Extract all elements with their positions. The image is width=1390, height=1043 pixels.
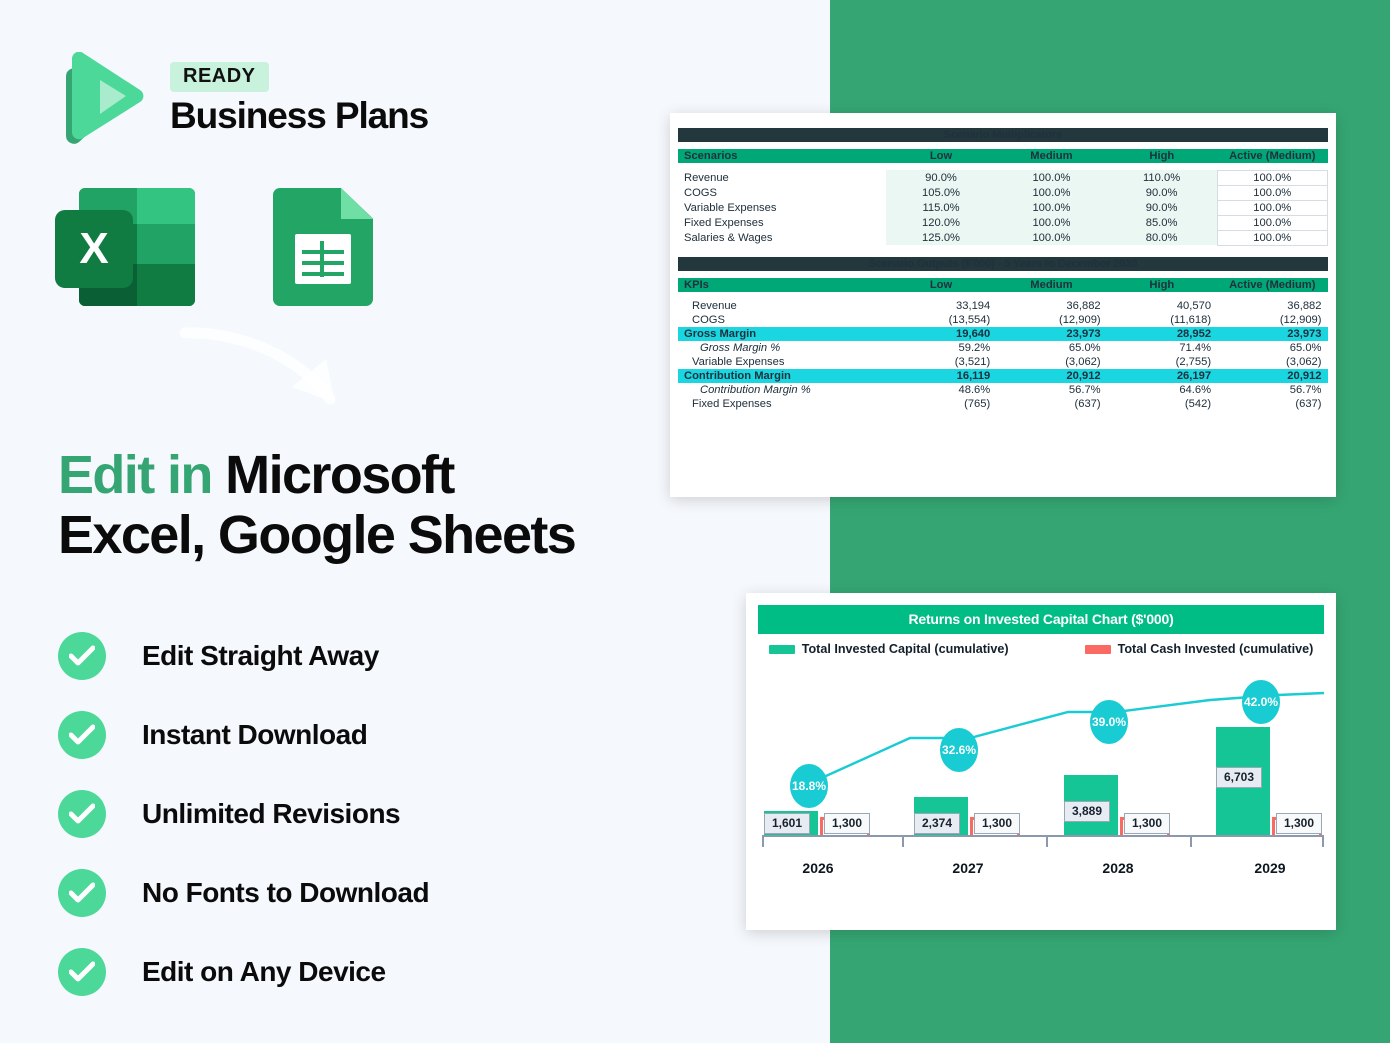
roic-bubble: 42.0%	[1242, 680, 1280, 724]
row-label: Fixed Expenses	[678, 215, 886, 230]
x-tick-label: 2029	[1254, 860, 1285, 876]
bar-label: 6,703	[1216, 767, 1262, 788]
legend-label: Total Cash Invested (cumulative)	[1118, 642, 1314, 656]
cell-low: 16,119	[886, 369, 996, 383]
row-label: Variable Expenses	[678, 355, 886, 369]
row-label: Contribution Margin	[678, 369, 886, 383]
cell-active: (3,062)	[1217, 355, 1327, 369]
column-header: Medium	[996, 149, 1106, 163]
cell-low: 125.0%	[886, 230, 996, 245]
row-label: Gross Margin	[678, 327, 886, 341]
cell-high: 110.0%	[1107, 170, 1217, 185]
cell-low: (3,521)	[886, 355, 996, 369]
check-circle-icon	[58, 869, 106, 917]
table-row: Contribution Margin % 48.6% 56.7% 64.6% …	[678, 383, 1328, 397]
column-header: KPIs	[678, 278, 886, 292]
x-axis-labels: 2026 2027 2028 2029	[758, 860, 1324, 886]
play-triangle-logo-icon	[58, 52, 146, 144]
cell-high: 80.0%	[1107, 230, 1217, 245]
cell-low: (765)	[886, 397, 996, 411]
column-header: High	[1107, 149, 1217, 163]
cell-medium: 100.0%	[996, 185, 1106, 200]
cell-high: 85.0%	[1107, 215, 1217, 230]
cell-high: 40,570	[1107, 299, 1217, 313]
cell-high: 28,952	[1107, 327, 1217, 341]
roic-bubble: 39.0%	[1090, 700, 1128, 744]
table-title-row: Scenario Multiplicators	[678, 128, 1328, 142]
feature-label: Edit Straight Away	[142, 640, 379, 672]
x-axis-line	[762, 835, 1324, 837]
row-label: Gross Margin %	[678, 341, 886, 355]
bar-label: 1,300	[824, 813, 870, 834]
microsoft-excel-icon: X	[55, 188, 195, 306]
legend-swatch-icon	[769, 645, 795, 654]
column-header: High	[1107, 278, 1217, 292]
cell-high: (542)	[1107, 397, 1217, 411]
cell-medium: 65.0%	[996, 341, 1106, 355]
cell-high: 71.4%	[1107, 341, 1217, 355]
chart-title: Returns on Invested Capital Chart ($'000…	[758, 605, 1324, 634]
cell-medium: 100.0%	[996, 230, 1106, 245]
bar-label: 1,300	[1276, 813, 1322, 834]
row-label: Revenue	[678, 170, 886, 185]
cell-medium: 100.0%	[996, 170, 1106, 185]
roic-bubble: 18.8%	[790, 764, 828, 808]
feature-label: Edit on Any Device	[142, 956, 386, 988]
bar-label: 1,601	[764, 813, 810, 834]
list-item: No Fonts to Download	[58, 853, 429, 932]
bar-label: 3,889	[1064, 801, 1110, 822]
check-circle-icon	[58, 790, 106, 838]
cell-medium: (3,062)	[996, 355, 1106, 369]
cell-medium: 23,973	[996, 327, 1106, 341]
table-header-row: KPIs Low Medium High Active (Medium)	[678, 278, 1328, 292]
cell-medium: (637)	[996, 397, 1106, 411]
cell-low: 19,640	[886, 327, 996, 341]
cell-active: 56.7%	[1217, 383, 1327, 397]
cell-low: (13,554)	[886, 313, 996, 327]
legend-label: Total Invested Capital (cumulative)	[802, 642, 1009, 656]
cell-low: 33,194	[886, 299, 996, 313]
table-row: Gross Margin 19,640 23,973 28,952 23,973	[678, 327, 1328, 341]
brand-header: READY Business Plans	[58, 52, 428, 144]
bar-label: 1,300	[974, 813, 1020, 834]
cell-high: 64.6%	[1107, 383, 1217, 397]
cell-high: (2,755)	[1107, 355, 1217, 369]
cell-active[interactable]: 100.0%	[1217, 185, 1327, 200]
app-icons-row: X	[55, 188, 373, 306]
cell-low: 48.6%	[886, 383, 996, 397]
list-item: Edit on Any Device	[58, 932, 429, 1011]
excel-letter: X	[55, 210, 133, 288]
ready-badge: READY	[170, 62, 269, 92]
cell-high: (11,618)	[1107, 313, 1217, 327]
legend-swatch-icon	[1085, 645, 1111, 654]
headline-rest: Microsoft	[212, 445, 454, 505]
x-tick-label: 2026	[802, 860, 833, 876]
cell-medium: 56.7%	[996, 383, 1106, 397]
google-sheets-icon	[273, 188, 373, 306]
headline-accent: Edit in	[58, 445, 212, 505]
check-circle-icon	[58, 948, 106, 996]
row-label: Salaries & Wages	[678, 230, 886, 245]
row-label: Revenue	[678, 299, 886, 313]
bar-label: 2,374	[914, 813, 960, 834]
feature-label: Unlimited Revisions	[142, 798, 400, 830]
cell-active: (12,909)	[1217, 313, 1327, 327]
cell-active[interactable]: 100.0%	[1217, 170, 1327, 185]
list-item: Instant Download	[58, 695, 429, 774]
headline-line2: Excel, Google Sheets	[58, 505, 575, 565]
table-header-row: Scenarios Low Medium High Active (Medium…	[678, 149, 1328, 163]
row-label: Fixed Expenses	[678, 397, 886, 411]
table-row: Fixed Expenses 120.0% 100.0% 85.0% 100.0…	[678, 215, 1328, 230]
feature-label: Instant Download	[142, 719, 367, 751]
column-header: Scenarios	[678, 149, 886, 163]
cell-active: 20,912	[1217, 369, 1327, 383]
cell-low: 59.2%	[886, 341, 996, 355]
outputs-title: Scenario Outputs ($'000) - 5 Years to De…	[678, 257, 1328, 271]
spreadsheet-preview-card: Scenario Multiplicators Scenarios Low Me…	[670, 113, 1336, 497]
cell-active[interactable]: 100.0%	[1217, 215, 1327, 230]
curved-arrow-icon	[180, 325, 370, 425]
cell-high: 90.0%	[1107, 200, 1217, 215]
x-tick-label: 2027	[952, 860, 983, 876]
legend-item-invested-capital: Total Invested Capital (cumulative)	[769, 642, 1009, 656]
table-row: Salaries & Wages 125.0% 100.0% 80.0% 100…	[678, 230, 1328, 245]
row-label: Variable Expenses	[678, 200, 886, 215]
row-label: COGS	[678, 185, 886, 200]
cell-low: 120.0%	[886, 215, 996, 230]
row-label: Contribution Margin %	[678, 383, 886, 397]
cell-low: 105.0%	[886, 185, 996, 200]
scenario-tables: Scenario Multiplicators Scenarios Low Me…	[678, 128, 1328, 411]
list-item: Edit Straight Away	[58, 616, 429, 695]
brand-name: Business Plans	[170, 97, 428, 136]
check-circle-icon	[58, 711, 106, 759]
page-title: Edit in Microsoft Excel, Google Sheets	[58, 445, 758, 566]
cell-low: 115.0%	[886, 200, 996, 215]
cell-active[interactable]: 100.0%	[1217, 200, 1327, 215]
cell-medium: 36,882	[996, 299, 1106, 313]
cell-low: 90.0%	[886, 170, 996, 185]
legend-item-cash-invested: Total Cash Invested (cumulative)	[1085, 642, 1314, 656]
column-header: Low	[886, 278, 996, 292]
column-header: Medium	[996, 278, 1106, 292]
chart-preview-card: Returns on Invested Capital Chart ($'000…	[746, 593, 1336, 930]
cell-active[interactable]: 100.0%	[1217, 230, 1327, 245]
cell-medium: 100.0%	[996, 215, 1106, 230]
table-row: Fixed Expenses (765) (637) (542) (637)	[678, 397, 1328, 411]
table-row: Contribution Margin 16,119 20,912 26,197…	[678, 369, 1328, 383]
cell-active: (637)	[1217, 397, 1327, 411]
table-row: COGS (13,554) (12,909) (11,618) (12,909)	[678, 313, 1328, 327]
bar-label: 1,300	[1124, 813, 1170, 834]
table-row: COGS 105.0% 100.0% 90.0% 100.0%	[678, 185, 1328, 200]
list-item: Unlimited Revisions	[58, 774, 429, 853]
cell-active: 23,973	[1217, 327, 1327, 341]
cell-high: 90.0%	[1107, 185, 1217, 200]
x-tick-label: 2028	[1102, 860, 1133, 876]
column-header: Low	[886, 149, 996, 163]
table-row: Variable Expenses (3,521) (3,062) (2,755…	[678, 355, 1328, 369]
cell-active: 65.0%	[1217, 341, 1327, 355]
roic-bubble: 32.6%	[940, 728, 978, 772]
table-row: Revenue 90.0% 100.0% 110.0% 100.0%	[678, 170, 1328, 185]
column-header: Active (Medium)	[1217, 149, 1327, 163]
chart-plot-area: 1,601 1,300 18.8% 2,374 1,300 32.6% 3,88…	[758, 660, 1324, 892]
table-row: Variable Expenses 115.0% 100.0% 90.0% 10…	[678, 200, 1328, 215]
chart-legend: Total Invested Capital (cumulative) Tota…	[758, 642, 1324, 656]
cell-medium: (12,909)	[996, 313, 1106, 327]
cell-active: 36,882	[1217, 299, 1327, 313]
feature-label: No Fonts to Download	[142, 877, 429, 909]
column-header: Active (Medium)	[1217, 278, 1327, 292]
cell-medium: 100.0%	[996, 200, 1106, 215]
table-row: Revenue 33,194 36,882 40,570 36,882	[678, 299, 1328, 313]
table-title-row: Scenario Outputs ($'000) - 5 Years to De…	[678, 257, 1328, 271]
cell-high: 26,197	[1107, 369, 1217, 383]
feature-list: Edit Straight Away Instant Download Unli…	[58, 616, 429, 1011]
check-circle-icon	[58, 632, 106, 680]
table-row: Gross Margin % 59.2% 65.0% 71.4% 65.0%	[678, 341, 1328, 355]
cell-medium: 20,912	[996, 369, 1106, 383]
row-label: COGS	[678, 313, 886, 327]
multipliers-title: Scenario Multiplicators	[678, 128, 1328, 142]
